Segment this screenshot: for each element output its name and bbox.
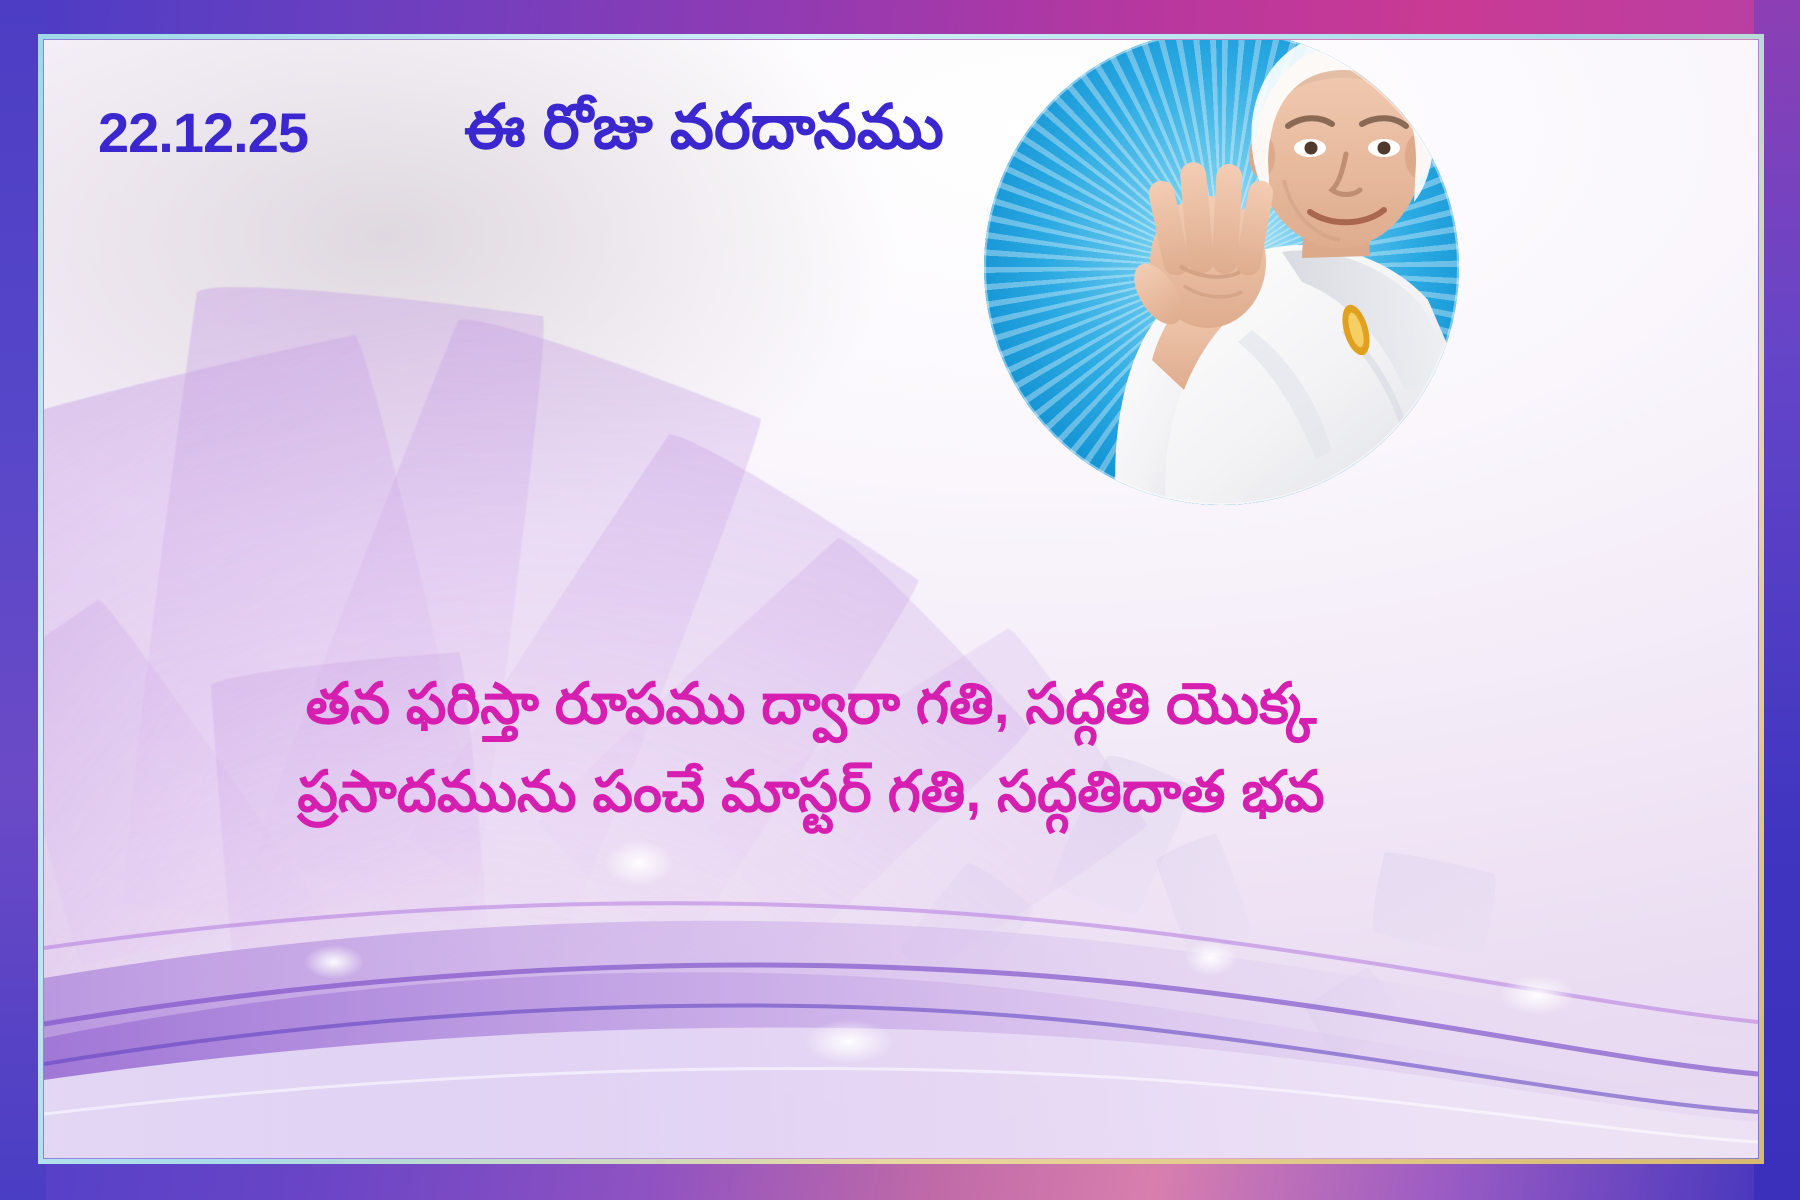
sparkle (1184, 940, 1238, 976)
message-line: ప్రసాదమును పంచే మాస్టర్ గతి, సద్గతిదాత భ… (114, 748, 1508, 836)
message-line: తన ఫరిస్తా రూపము ద్వారా గతి, సద్గతి యొక్… (114, 660, 1508, 748)
headline-title: ఈ రోజు వరదానము (464, 92, 944, 163)
sparkle (304, 945, 364, 979)
date-label: 22.12.25 (98, 100, 308, 165)
sparkle (1499, 975, 1575, 1015)
sparkle (604, 840, 674, 886)
portrait-photo (984, 40, 1459, 505)
slide-content-area: 22.12.25 ఈ రోజు వరదానము తన ఫరిస్తా రూపము… (44, 40, 1758, 1158)
message-body: తన ఫరిస్తా రూపము ద్వారా గతి, సద్గతి యొక్… (114, 660, 1508, 837)
frame-bottom-edge (0, 1158, 1800, 1200)
slide-canvas: 22.12.25 ఈ రోజు వరదానము తన ఫరిస్తా రూపము… (0, 0, 1800, 1200)
sparkle (804, 1020, 894, 1064)
portrait-figure (984, 40, 1459, 505)
